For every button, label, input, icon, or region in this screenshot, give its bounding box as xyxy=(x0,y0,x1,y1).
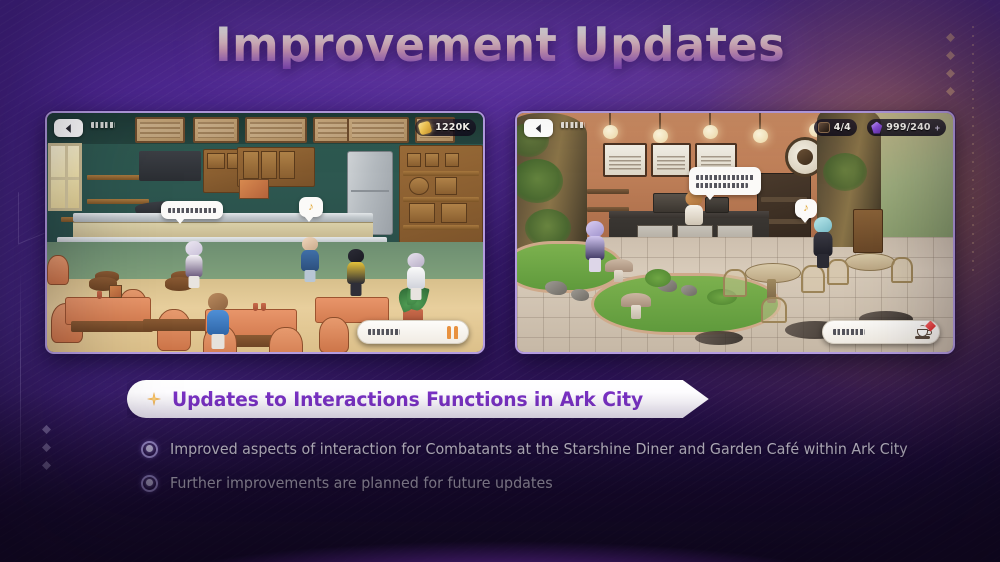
speech-bubble-dialogue xyxy=(161,201,223,219)
gem-icon xyxy=(871,122,882,134)
coin-value: 1220K xyxy=(435,122,470,133)
gem-value: 999/240 xyxy=(886,122,931,133)
bullet-text: Further improvements are planned for fut… xyxy=(170,474,553,492)
coffee-cup-icon xyxy=(916,326,932,339)
decoration-left-diamonds xyxy=(42,416,51,479)
coin-icon xyxy=(418,120,433,135)
action-bar-cafe[interactable] xyxy=(822,320,940,344)
action-label xyxy=(368,329,400,335)
character-barista xyxy=(683,191,705,231)
character-combatant-2 xyxy=(811,217,835,271)
back-button[interactable] xyxy=(524,119,553,137)
diner-scene: ♪ xyxy=(47,113,483,352)
back-button[interactable] xyxy=(54,119,83,137)
page-title-wrap: Improvement Updates xyxy=(0,22,1000,69)
character-combatant-1 xyxy=(183,241,205,289)
orbit-bullet-icon xyxy=(141,441,158,458)
location-label xyxy=(561,122,585,128)
character-combatant-3 xyxy=(405,253,427,301)
character-combatant-1 xyxy=(583,221,607,275)
bullet-text: Improved aspects of interaction for Comb… xyxy=(170,440,908,458)
location-label xyxy=(91,122,115,128)
back-arrow-icon xyxy=(63,123,74,134)
slide-root: Improvement Updates xyxy=(0,0,1000,562)
resource-gem[interactable]: 999/240 + xyxy=(867,119,946,136)
stamina-icon xyxy=(818,122,830,133)
decoration-left-line xyxy=(20,270,21,500)
resource-coin[interactable]: 1220K xyxy=(415,119,476,136)
stamina-value: 4/4 xyxy=(834,122,851,133)
speech-bubble-dialogue xyxy=(689,167,761,195)
orbit-bullet-icon xyxy=(141,475,158,492)
page-title: Improvement Updates xyxy=(215,22,785,69)
cafe-scene: ♪ xyxy=(517,113,953,352)
speech-bubble-music-note: ♪ xyxy=(299,197,323,217)
character-player xyxy=(205,293,231,351)
action-label xyxy=(833,329,865,335)
screenshot-starshine-diner[interactable]: ♪ 1220K xyxy=(45,111,485,354)
speech-bubble-music-note: ♪ xyxy=(795,199,817,218)
back-arrow-icon xyxy=(533,123,544,134)
background-bottom-glow xyxy=(0,528,1000,562)
list-item: Improved aspects of interaction for Comb… xyxy=(141,432,931,466)
cutlery-icon xyxy=(446,325,461,339)
list-item: Further improvements are planned for fut… xyxy=(141,466,931,500)
section-banner: Updates to Interactions Functions in Ark… xyxy=(127,380,709,418)
screenshot-garden-cafe[interactable]: ♪ 4/4 999/240 + xyxy=(515,111,955,354)
action-bar-diner[interactable] xyxy=(357,320,469,344)
resource-stamina[interactable]: 4/4 xyxy=(814,119,857,136)
character-combatant-2 xyxy=(345,249,367,297)
section-banner-label: Updates to Interactions Functions in Ark… xyxy=(172,388,643,411)
bullet-list: Improved aspects of interaction for Comb… xyxy=(141,432,931,500)
character-chef xyxy=(299,237,321,283)
sparkle-star-icon xyxy=(147,392,161,406)
gem-add-button[interactable]: + xyxy=(935,123,940,133)
